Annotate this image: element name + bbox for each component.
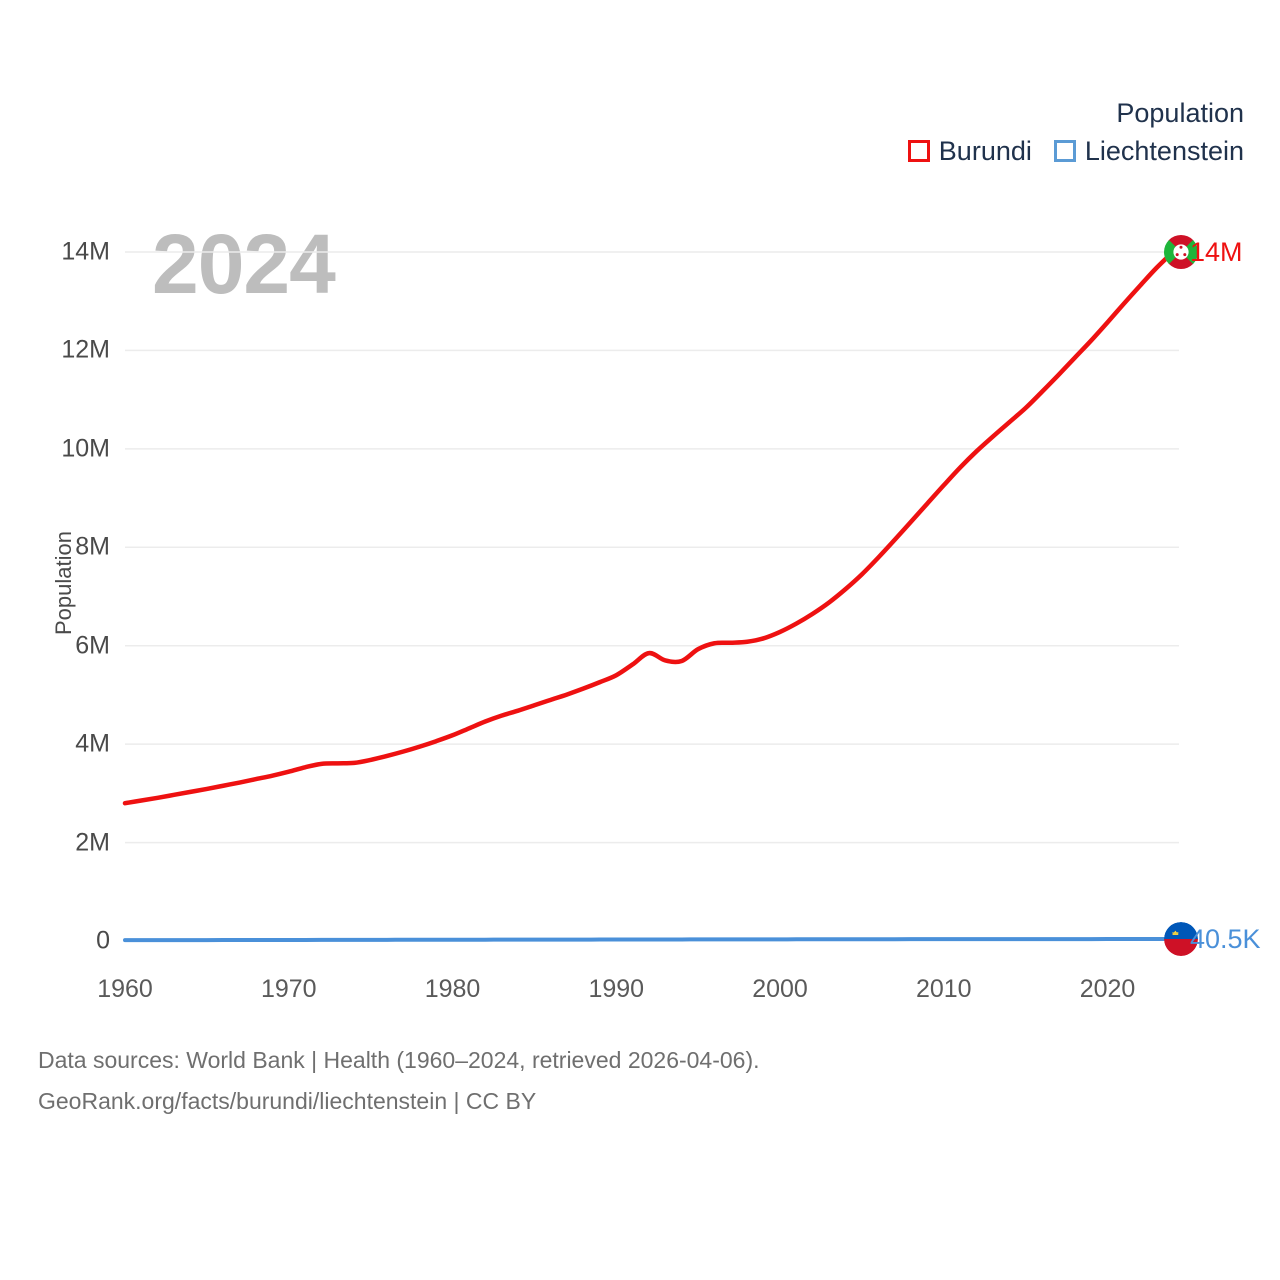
series-lines <box>125 252 1173 940</box>
x-tick-label: 1980 <box>425 975 481 1004</box>
x-tick-label: 1990 <box>588 975 644 1004</box>
y-tick-label: 0 <box>0 927 110 956</box>
gridlines <box>125 252 1179 843</box>
y-tick-label: 14M <box>0 238 110 267</box>
footer-attribution-line: GeoRank.org/facts/burundi/liechtenstein … <box>38 1081 760 1122</box>
x-tick-label: 1970 <box>261 975 317 1004</box>
x-tick-label: 1960 <box>97 975 153 1004</box>
chart-root: Population Burundi Liechtenstein 2024 Po… <box>0 0 1280 1280</box>
series-line-burundi <box>125 252 1173 803</box>
chart-footer: Data sources: World Bank | Health (1960–… <box>38 1040 760 1122</box>
footer-sources-line: Data sources: World Bank | Health (1960–… <box>38 1040 760 1081</box>
x-tick-label: 2020 <box>1080 975 1136 1004</box>
series-line-liechtenstein <box>125 939 1173 940</box>
y-tick-label: 8M <box>0 533 110 562</box>
burundi-end-label: 14M <box>1190 237 1243 267</box>
y-tick-label: 6M <box>0 631 110 660</box>
x-tick-label: 2000 <box>752 975 808 1004</box>
x-tick-label: 2010 <box>916 975 972 1004</box>
y-tick-label: 10M <box>0 434 110 463</box>
y-tick-label: 2M <box>0 828 110 857</box>
y-tick-label: 4M <box>0 730 110 759</box>
y-tick-label: 12M <box>0 336 110 365</box>
liechtenstein-end-label: 40.5K <box>1190 924 1261 954</box>
